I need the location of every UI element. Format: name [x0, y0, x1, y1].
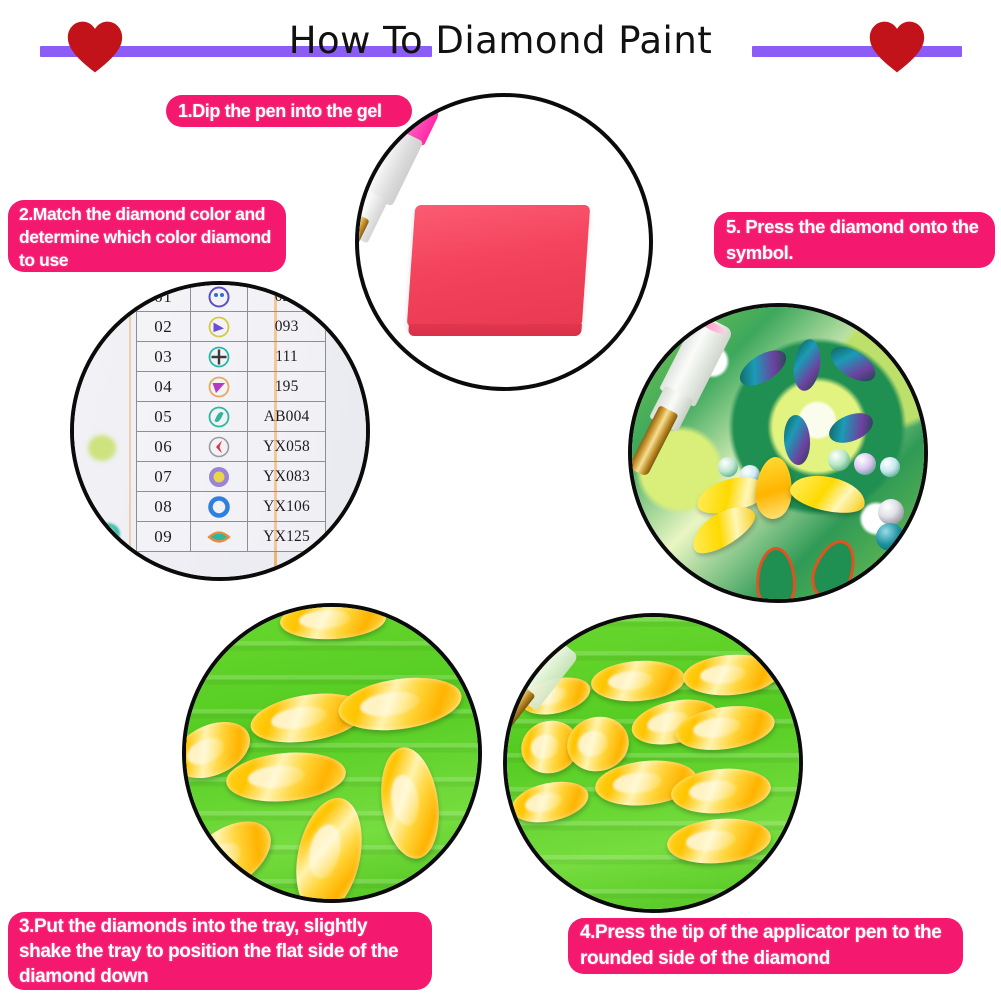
step-4-photo	[503, 613, 803, 913]
color-chart-table: 01 020 02	[136, 281, 326, 552]
diamond-gem	[828, 449, 850, 471]
table-row: 02 093	[137, 312, 326, 342]
page-title: How To Diamond Paint	[0, 18, 1001, 64]
step-3-photo	[182, 603, 482, 903]
table-row: 04 195	[137, 372, 326, 402]
table-row: 03 111	[137, 342, 326, 372]
step-5-label: 5. Press the diamond onto the symbol.	[714, 212, 995, 268]
chart-no: 03	[137, 342, 191, 372]
chart-symbol	[190, 282, 248, 312]
pen-tip	[628, 405, 678, 477]
triangle-circle-icon	[207, 315, 231, 339]
table-row: 06 YX058	[137, 432, 326, 462]
chart-symbol	[190, 432, 248, 462]
chart-no: 09	[137, 522, 191, 552]
step-2-photo: 01 020 02	[70, 281, 370, 581]
donut-circle-icon	[207, 495, 231, 519]
diamond-gem	[880, 457, 900, 477]
table-row: 05 AB004	[137, 402, 326, 432]
table-row: 09 YX125	[137, 522, 326, 552]
chart-symbol	[190, 342, 248, 372]
plus-circle-icon	[207, 345, 231, 369]
step-1-photo	[355, 93, 653, 391]
chevron-circle-icon	[207, 435, 231, 459]
chart-code: YX058	[248, 432, 326, 462]
photo-pen-dipping-gel	[359, 97, 649, 387]
leaf-circle-icon	[207, 405, 231, 429]
triangle-flag-circle-icon	[207, 375, 231, 399]
step-4-label: 4.Press the tip of the applicator pen to…	[568, 918, 963, 974]
chart-no: 01	[137, 282, 191, 312]
chart-code: 111	[248, 342, 326, 372]
table-row: 07 YX083	[137, 462, 326, 492]
chart-symbol	[190, 372, 248, 402]
chart-symbol	[190, 492, 248, 522]
header: How To Diamond Paint	[0, 0, 1001, 90]
canvas-print-dot	[96, 523, 120, 545]
chart-no: 02	[137, 312, 191, 342]
smiley-circle-icon	[207, 285, 231, 309]
chart-symbol	[190, 462, 248, 492]
chart-symbol	[190, 522, 248, 552]
gel-pad	[407, 205, 591, 327]
chart-code: 020	[248, 282, 326, 312]
diamond-gem	[718, 457, 738, 477]
chart-no: 06	[137, 432, 191, 462]
chart-symbol	[190, 312, 248, 342]
table-row: 08 YX106	[137, 492, 326, 522]
chart-code: 195	[248, 372, 326, 402]
step-3-label: 3.Put the diamonds into the tray, slight…	[8, 912, 432, 990]
diamond-gem	[876, 523, 904, 551]
table-row: 01 020	[137, 282, 326, 312]
chart-no: 08	[137, 492, 191, 522]
infographic-canvas: How To Diamond Paint 1.Dip the pen into …	[0, 0, 1001, 1001]
chart-code: 093	[248, 312, 326, 342]
chart-code: YX125	[248, 522, 326, 552]
photo-diamonds-in-tray	[186, 607, 478, 899]
dot-ring-circle-icon	[207, 465, 231, 489]
step-5-photo	[628, 303, 928, 603]
diamond-gem	[854, 453, 876, 475]
photo-color-chart: 01 020 02	[74, 285, 366, 577]
canvas-print-dot	[88, 435, 116, 461]
chart-no: 07	[137, 462, 191, 492]
chart-symbol	[190, 402, 248, 432]
chart-code: AB004	[248, 402, 326, 432]
photo-pressing-onto-canvas	[632, 307, 924, 599]
canvas-stripe	[129, 285, 131, 577]
chart-code: YX106	[248, 492, 326, 522]
eye-leaf-icon	[207, 525, 231, 549]
chart-code: YX083	[248, 462, 326, 492]
chart-no: 04	[137, 372, 191, 402]
photo-pen-picking-diamond	[507, 617, 799, 909]
step-2-label: 2.Match the diamond color and determine …	[8, 200, 286, 272]
chart-no: 05	[137, 402, 191, 432]
diamond-gem	[878, 499, 904, 525]
